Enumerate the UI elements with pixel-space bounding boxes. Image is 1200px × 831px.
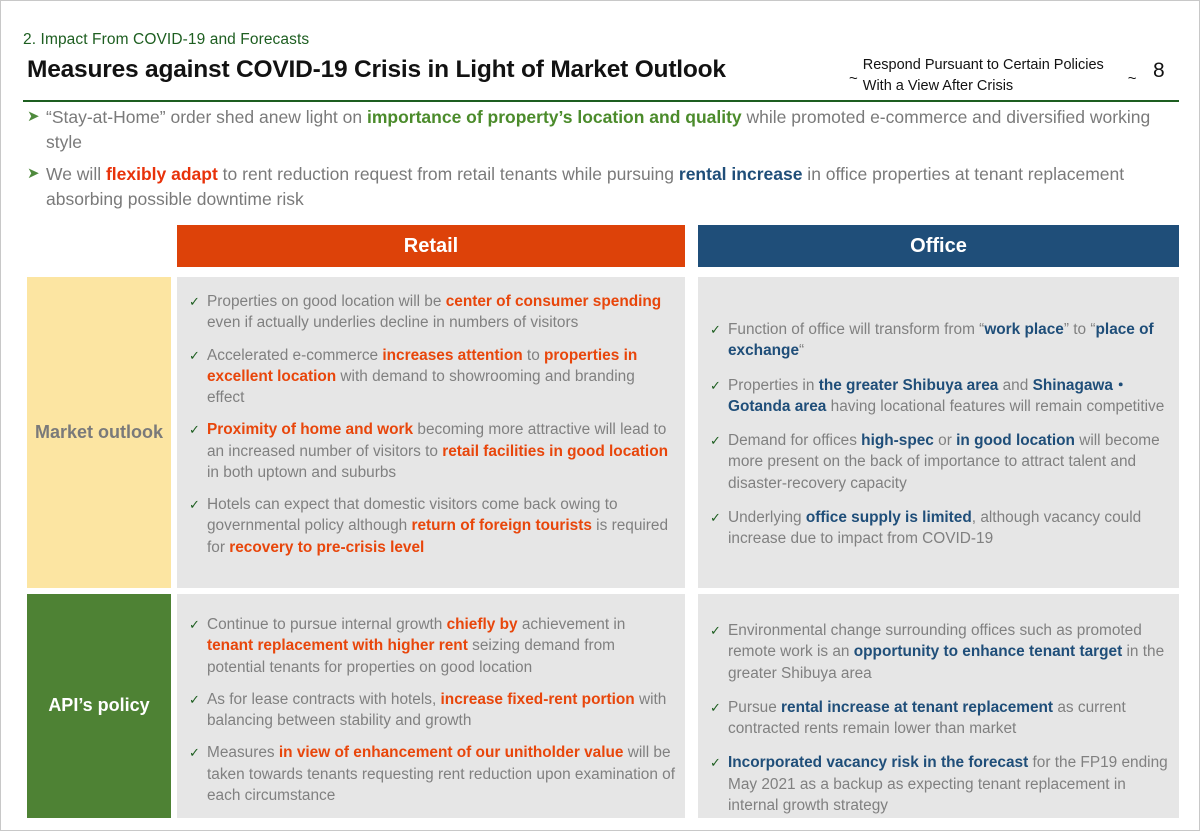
text-run: Pursue — [728, 699, 781, 716]
slide-page: 2. Impact From COVID-19 and Forecasts Me… — [0, 0, 1200, 831]
text-run: Proximity of home and work — [207, 421, 413, 438]
text-run: Properties on good location will be — [207, 293, 446, 310]
check-bullet: ✓Properties in the greater Shibuya area … — [710, 375, 1169, 418]
check-icon: ✓ — [710, 507, 728, 527]
check-icon: ✓ — [189, 614, 207, 634]
text-run: in good location — [956, 432, 1075, 449]
text-run: rental increase at tenant replacement — [781, 699, 1053, 716]
cell-market-retail: ✓Properties on good location will be cen… — [177, 277, 685, 588]
arrow-bullet-icon: ➤ — [27, 162, 46, 184]
tilde-right-icon: ~ — [1123, 70, 1142, 87]
page-subtitle: Respond Pursuant to Certain Policies Wit… — [863, 55, 1123, 97]
check-bullet-text: Properties on good location will be cent… — [207, 291, 675, 334]
check-bullet-text: Properties in the greater Shibuya area a… — [728, 375, 1169, 418]
text-run: Underlying — [728, 509, 806, 526]
intro-bullet-text: “Stay-at-Home” order shed anew light on … — [46, 105, 1177, 155]
check-bullet: ✓Function of office will transform from … — [710, 319, 1169, 362]
check-bullet: ✓Proximity of home and work becoming mor… — [189, 419, 675, 483]
check-icon: ✓ — [710, 752, 728, 772]
text-run: to — [523, 347, 544, 364]
text-run: return of foreign tourists — [411, 517, 591, 534]
text-run: Accelerated e-commerce — [207, 347, 382, 364]
check-bullet-text: Hotels can expect that domestic visitors… — [207, 494, 675, 558]
text-run: chiefly by — [447, 616, 518, 633]
check-bullet-text: Environmental change surrounding offices… — [728, 620, 1169, 684]
text-run: Properties in — [728, 377, 819, 394]
text-run: even if actually underlies decline in nu… — [207, 314, 578, 331]
check-icon: ✓ — [710, 319, 728, 339]
text-run: “ — [799, 342, 804, 359]
text-run: opportunity to enhance tenant target — [854, 643, 1123, 660]
check-bullet: ✓Continue to pursue internal growth chie… — [189, 614, 675, 678]
text-run: retail facilities in good location — [442, 443, 668, 460]
slide-header: 2. Impact From COVID-19 and Forecasts Me… — [1, 1, 1200, 101]
check-bullet-text: Proximity of home and work becoming more… — [207, 419, 675, 483]
text-run: ” to “ — [1064, 321, 1096, 338]
text-run: As for lease contracts with hotels, — [207, 691, 441, 708]
intro-bullet: ➤We will flexibly adapt to rent reductio… — [27, 162, 1177, 212]
text-run: Incorporated vacancy risk in the forecas… — [728, 754, 1028, 771]
check-icon: ✓ — [710, 375, 728, 395]
check-icon: ✓ — [189, 419, 207, 439]
check-bullet-text: Demand for offices high-spec or in good … — [728, 430, 1169, 494]
text-run: increases attention — [382, 347, 522, 364]
check-bullet: ✓Hotels can expect that domestic visitor… — [189, 494, 675, 558]
text-run: Continue to pursue internal growth — [207, 616, 447, 633]
text-run: We will — [46, 164, 106, 184]
text-run: rental increase — [679, 164, 803, 184]
intro-bullet-text: We will flexibly adapt to rent reduction… — [46, 162, 1177, 212]
check-bullet: ✓Measures in view of enhancement of our … — [189, 742, 675, 806]
check-bullet: ✓Incorporated vacancy risk in the foreca… — [710, 752, 1169, 816]
check-bullet-text: Function of office will transform from “… — [728, 319, 1169, 362]
check-icon: ✓ — [710, 620, 728, 640]
text-run: flexibly adapt — [106, 164, 218, 184]
column-header-office: Office — [698, 225, 1179, 267]
text-run: Measures — [207, 744, 279, 761]
check-bullet: ✓Environmental change surrounding office… — [710, 620, 1169, 684]
column-header-retail-label: Retail — [404, 235, 458, 258]
cell-policy-office: ✓Environmental change surrounding office… — [698, 594, 1179, 818]
check-bullet: ✓Properties on good location will be cen… — [189, 291, 675, 334]
check-icon: ✓ — [189, 689, 207, 709]
text-run: center of consumer spending — [446, 293, 662, 310]
cell-policy-retail: ✓Continue to pursue internal growth chie… — [177, 594, 685, 818]
check-bullet-text: Incorporated vacancy risk in the forecas… — [728, 752, 1169, 816]
check-bullet: ✓Accelerated e-commerce increases attent… — [189, 345, 675, 409]
intro-bullet: ➤“Stay-at-Home” order shed anew light on… — [27, 105, 1177, 155]
text-run: high-spec — [861, 432, 934, 449]
text-run: the greater Shibuya area — [819, 377, 999, 394]
check-bullet: ✓Pursue rental increase at tenant replac… — [710, 697, 1169, 740]
page-number: 8 — [1153, 59, 1165, 83]
text-run: recovery to pre-crisis level — [229, 539, 424, 556]
text-run: to rent reduction request from retail te… — [218, 164, 679, 184]
check-bullet-text: Underlying office supply is limited, alt… — [728, 507, 1169, 550]
text-run: achievement in — [518, 616, 626, 633]
text-run: in view of enhancement of our unitholder… — [279, 744, 624, 761]
text-run: office supply is limited — [806, 509, 972, 526]
row-label-market-outlook-text: Market outlook — [35, 421, 163, 445]
text-run: increase fixed-rent portion — [441, 691, 635, 708]
text-run: and — [998, 377, 1032, 394]
check-bullet-text: Measures in view of enhancement of our u… — [207, 742, 675, 806]
text-run: work place — [984, 321, 1064, 338]
tilde-left-icon: ~ — [844, 70, 863, 87]
header-divider — [23, 100, 1179, 102]
row-label-market-outlook: Market outlook — [27, 277, 171, 588]
check-bullet-text: Accelerated e-commerce increases attenti… — [207, 345, 675, 409]
check-icon: ✓ — [710, 697, 728, 717]
check-icon: ✓ — [189, 494, 207, 514]
text-run: tenant replacement with higher rent — [207, 637, 468, 654]
check-bullet-text: Continue to pursue internal growth chief… — [207, 614, 675, 678]
text-run: Demand for offices — [728, 432, 861, 449]
check-bullet-text: Pursue rental increase at tenant replace… — [728, 697, 1169, 740]
check-bullet: ✓Underlying office supply is limited, al… — [710, 507, 1169, 550]
section-label: 2. Impact From COVID-19 and Forecasts — [23, 31, 309, 49]
check-bullet-text: As for lease contracts with hotels, incr… — [207, 689, 675, 732]
row-label-api-policy: API’s policy — [27, 594, 171, 818]
subtitle-group: ~ Respond Pursuant to Certain Policies W… — [844, 55, 1142, 97]
page-title: Measures against COVID-19 Crisis in Ligh… — [27, 56, 726, 84]
check-icon: ✓ — [189, 742, 207, 762]
text-run: importance of property’s location and qu… — [367, 107, 742, 127]
check-icon: ✓ — [710, 430, 728, 450]
row-label-api-policy-text: API’s policy — [48, 694, 149, 718]
column-header-office-label: Office — [910, 235, 967, 258]
check-bullet: ✓Demand for offices high-spec or in good… — [710, 430, 1169, 494]
cell-market-office: ✓Function of office will transform from … — [698, 277, 1179, 588]
text-run: having locational features will remain c… — [826, 398, 1164, 415]
arrow-bullet-icon: ➤ — [27, 105, 46, 127]
check-bullet: ✓As for lease contracts with hotels, inc… — [189, 689, 675, 732]
text-run: “Stay-at-Home” order shed anew light on — [46, 107, 367, 127]
text-run: in both uptown and suburbs — [207, 464, 396, 481]
intro-bullet-list: ➤“Stay-at-Home” order shed anew light on… — [27, 105, 1177, 218]
text-run: Function of office will transform from “ — [728, 321, 984, 338]
check-icon: ✓ — [189, 291, 207, 311]
column-header-retail: Retail — [177, 225, 685, 267]
text-run: or — [934, 432, 956, 449]
check-icon: ✓ — [189, 345, 207, 365]
